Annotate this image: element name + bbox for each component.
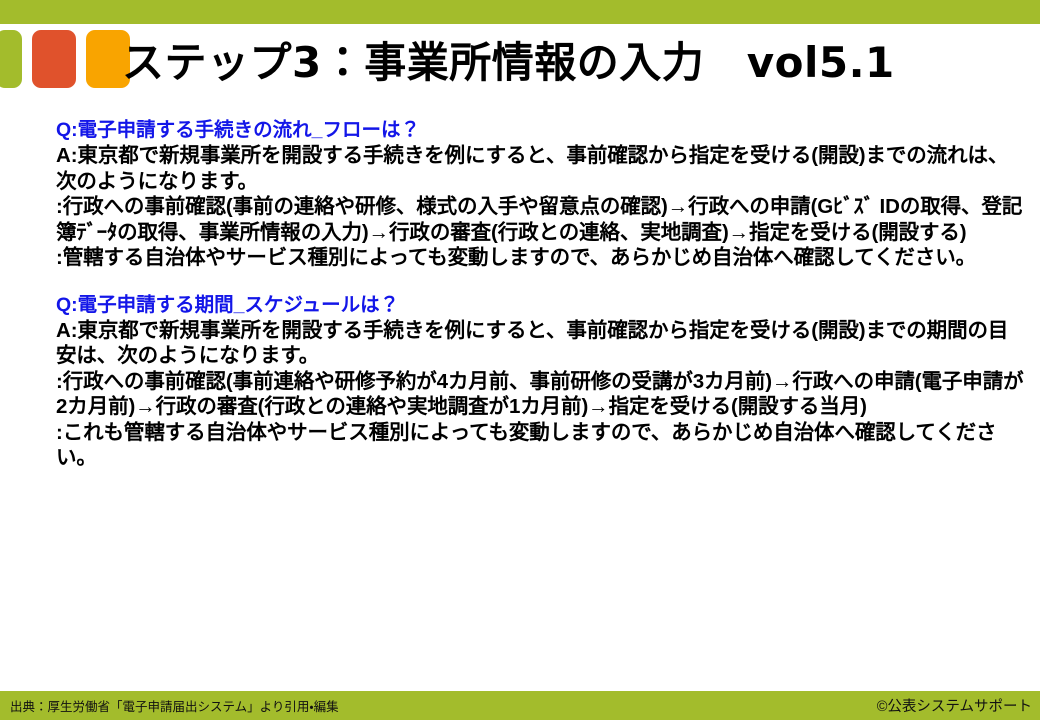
answer-paragraph: A:東京都で新規事業所を開設する手続きを例にすると、事前確認から指定を受ける(開… [56,143,1026,194]
footer-source-text: 出典：厚生労働省「電子申請届出システム」より引用・編集 [10,691,339,720]
slide-footer: 出典：厚生労働省「電子申請届出システム」より引用・編集 ©公表システムサポート [0,691,1040,720]
answer-paragraph: :行政への事前確認(事前の連絡や研修、様式の入手や留意点の確認)→行政への申請(… [56,194,1026,245]
answer-paragraph: :これも管轄する自治体やサービス種別によっても変動しますので、あらかじめ自治体へ… [56,420,1026,471]
qa-block-flow: Q:電子申請する手続きの流れ_フローは？ A:東京都で新規事業所を開設する手続き… [56,118,1026,271]
qa-block-schedule: Q:電子申請する期間_スケジュールは？ A:東京都で新規事業所を開設する手続きを… [56,293,1026,471]
page-title: ステップ3：事業所情報の入力 vol5.1 [122,30,895,88]
footer-copyright-text: ©公表システムサポート [877,691,1032,720]
swatch-green-icon [0,30,22,88]
slide-content: Q:電子申請する手続きの流れ_フローは？ A:東京都で新規事業所を開設する手続き… [56,118,1026,493]
slide-header: ステップ3：事業所情報の入力 vol5.1 [0,24,1040,100]
question-text: Q:電子申請する手続きの流れ_フローは？ [56,118,1026,143]
answer-paragraph: :管轄する自治体やサービス種別によっても変動しますので、あらかじめ自治体へ確認し… [56,245,1026,271]
header-top-accent-bar [0,0,1040,24]
header-swatch-group [0,30,130,88]
swatch-red-icon [32,30,76,88]
answer-paragraph: :行政への事前確認(事前連絡や研修予約が4カ月前、事前研修の受講が3カ月前)→行… [56,369,1026,420]
question-text: Q:電子申請する期間_スケジュールは？ [56,293,1026,318]
answer-paragraph: A:東京都で新規事業所を開設する手続きを例にすると、事前確認から指定を受ける(開… [56,318,1026,369]
